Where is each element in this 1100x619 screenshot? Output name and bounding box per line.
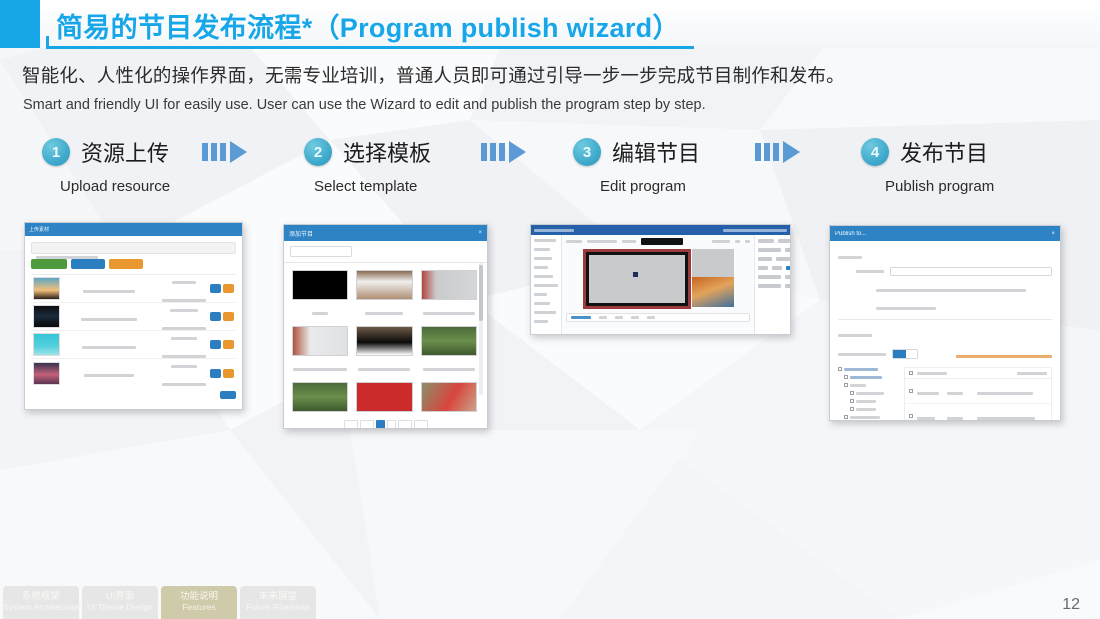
shot4-title: Publish to... [835, 231, 866, 237]
list-item[interactable] [292, 270, 348, 320]
template-thumbnail [421, 326, 477, 356]
row-settings-button[interactable] [210, 340, 221, 349]
template-thumbnail [421, 382, 477, 412]
pagination-page-2[interactable] [387, 420, 396, 429]
table-row[interactable] [905, 379, 1051, 404]
step-3-label-cn: 编辑节目 [612, 136, 700, 168]
table-row[interactable] [31, 331, 236, 359]
step-2-label-en: Select template [314, 178, 417, 195]
shot1-title: 上传素材 [29, 226, 49, 233]
row-checkbox[interactable] [909, 414, 913, 418]
list-item[interactable] [292, 382, 348, 412]
close-icon[interactable]: × [478, 230, 482, 236]
step-1: 1 资源上传 Upload resource [42, 132, 169, 172]
template-thumbnail [292, 326, 348, 356]
step-3: 3 编辑节目 Edit program [573, 132, 700, 172]
canvas-cursor-icon [633, 272, 638, 277]
row-settings-button[interactable] [210, 312, 221, 321]
wizard-steps: 1 资源上传 Upload resource 2 选择模板 Select tem… [0, 132, 1100, 210]
screenshot-upload-resource[interactable]: 上传素材 [24, 222, 243, 410]
row-delete-button[interactable] [223, 312, 234, 321]
close-icon[interactable]: × [1051, 231, 1055, 237]
shot2-title: 添加节目 [289, 229, 313, 238]
table-row[interactable] [31, 303, 236, 331]
shot1-add-file-button[interactable] [31, 259, 67, 269]
table-row[interactable] [31, 359, 236, 387]
shot2-template-grid [284, 263, 487, 416]
list-item[interactable] [356, 382, 412, 412]
list-item[interactable] [421, 326, 477, 376]
shot4-schedule-label [838, 246, 1052, 264]
template-thumbnail [292, 270, 348, 300]
template-thumbnail [356, 270, 412, 300]
template-thumbnail [292, 382, 348, 412]
title-underline [46, 46, 694, 49]
row-settings-button[interactable] [210, 284, 221, 293]
shot1-confirm-button[interactable] [220, 391, 236, 399]
shot4-terminal-table [904, 367, 1052, 421]
footer-tab-features[interactable]: 功能说明 Features [161, 586, 237, 619]
shot4-subcategory-toggle[interactable] [892, 349, 918, 359]
shot4-warning-text [956, 345, 1052, 363]
footer-tab-label-en: Future Roadmap [246, 603, 310, 613]
shot1-file-picker[interactable] [31, 242, 236, 254]
shot2-titlebar: 添加节目 × [284, 225, 487, 241]
shot3-canvas-area[interactable] [562, 235, 754, 335]
shot2-pagination [284, 416, 487, 429]
slide-title-band: 简易的节目发布流程*（Program publish wizard） [0, 0, 1100, 52]
step-4-label-en: Publish program [885, 178, 994, 195]
footer-section-tabs: 系统框架 System Architecture UI界面 UI Theme D… [3, 586, 316, 619]
step-4: 4 发布节目 Publish program [861, 132, 988, 172]
shot3-canvas-side [692, 249, 734, 309]
footer-tab-future-roadmap[interactable]: 未来展望 Future Roadmap [240, 586, 316, 619]
page-title: 简易的节目发布流程*（Program publish wizard） [56, 6, 680, 45]
list-item[interactable] [421, 382, 477, 412]
footer-tab-system-architecture[interactable]: 系统框架 System Architecture [3, 586, 79, 619]
shot4-hint-text [876, 279, 1052, 315]
row-settings-button[interactable] [210, 369, 221, 378]
step-1-label-en: Upload resource [60, 178, 170, 195]
list-item[interactable] [421, 270, 477, 320]
table-row[interactable] [905, 404, 1051, 421]
step-1-label-cn: 资源上传 [81, 136, 169, 168]
shot3-asset-panel[interactable] [531, 235, 562, 335]
step-1-number: 1 [42, 138, 70, 166]
pagination-prev[interactable] [360, 420, 374, 429]
shot1-button-row [31, 259, 236, 269]
shot2-scrollbar-thumb[interactable] [479, 265, 483, 321]
footer-tab-label-en: UI Theme Design [87, 603, 153, 613]
shot1-cancel-upload-button[interactable] [109, 259, 143, 269]
row-delete-button[interactable] [223, 284, 234, 293]
description-english: Smart and friendly UI for easily use. Us… [23, 97, 706, 113]
shot3-toolbar-dropdown[interactable] [641, 238, 683, 245]
select-all-checkbox[interactable] [909, 371, 913, 375]
shot3-properties-panel[interactable] [754, 235, 791, 335]
template-thumbnail [356, 382, 412, 412]
row-delete-button[interactable] [223, 369, 234, 378]
table-header-name [917, 372, 947, 375]
step-4-number: 4 [861, 138, 889, 166]
step-2-number: 2 [304, 138, 332, 166]
thumbnail [33, 333, 60, 356]
arrow-icon-3 [755, 141, 800, 163]
shot3-titlebar [531, 225, 790, 235]
shot4-subcategory-label [838, 353, 886, 356]
thumbnail [33, 305, 60, 328]
shot4-dispatching-select[interactable] [890, 267, 1052, 276]
title-accent-bar [0, 0, 40, 48]
list-item[interactable] [356, 326, 412, 376]
shot2-search-input[interactable] [290, 246, 352, 257]
screenshot-publish-to[interactable]: Publish to... × [829, 225, 1061, 421]
row-delete-button[interactable] [223, 340, 234, 349]
shot3-program-canvas[interactable] [583, 249, 691, 309]
screenshot-select-template[interactable]: 添加节目 × [283, 224, 488, 429]
arrow-icon-2 [481, 141, 526, 163]
thumbnail [33, 277, 60, 300]
step-3-label-en: Edit program [600, 178, 686, 195]
shot3-toolbar [566, 238, 750, 245]
step-3-number: 3 [573, 138, 601, 166]
step-2-label-cn: 选择模板 [343, 136, 431, 168]
pagination-last[interactable] [414, 420, 428, 429]
shot4-search-input[interactable] [1017, 372, 1047, 375]
footer-tab-label-en: System Architecture [3, 603, 79, 613]
row-checkbox[interactable] [909, 389, 913, 393]
pagination-next[interactable] [398, 420, 412, 429]
pagination-page-1[interactable] [376, 420, 385, 429]
shot4-category-tree[interactable] [838, 367, 900, 421]
template-thumbnail [356, 326, 412, 356]
page-number: 12 [1062, 596, 1080, 614]
arrow-icon-1 [202, 141, 247, 163]
screenshot-edit-program[interactable] [530, 224, 791, 335]
template-thumbnail [421, 270, 477, 300]
shot4-dispatching-label [856, 270, 884, 273]
list-item[interactable] [292, 326, 348, 376]
footer-tab-ui-theme-design[interactable]: UI界面 UI Theme Design [82, 586, 158, 619]
shot4-titlebar: Publish to... × [830, 226, 1060, 241]
shot4-terminals-label [838, 324, 1052, 342]
canvas-image-region [692, 277, 734, 307]
pagination-first[interactable] [344, 420, 358, 429]
shot1-start-upload-button[interactable] [71, 259, 105, 269]
shot1-titlebar: 上传素材 [25, 223, 242, 236]
step-4-label-cn: 发布节目 [900, 136, 988, 168]
thumbnail [33, 362, 60, 385]
shot1-file-list [31, 274, 236, 387]
footer-tab-label-en: Features [182, 603, 216, 613]
list-item[interactable] [356, 270, 412, 320]
shot3-timeline-bar[interactable] [566, 313, 750, 322]
table-row[interactable] [31, 275, 236, 303]
description-chinese: 智能化、人性化的操作界面，无需专业培训，普通人员即可通过引导一步一步完成节目制作… [22, 62, 845, 88]
step-2: 2 选择模板 Select template [304, 132, 431, 172]
